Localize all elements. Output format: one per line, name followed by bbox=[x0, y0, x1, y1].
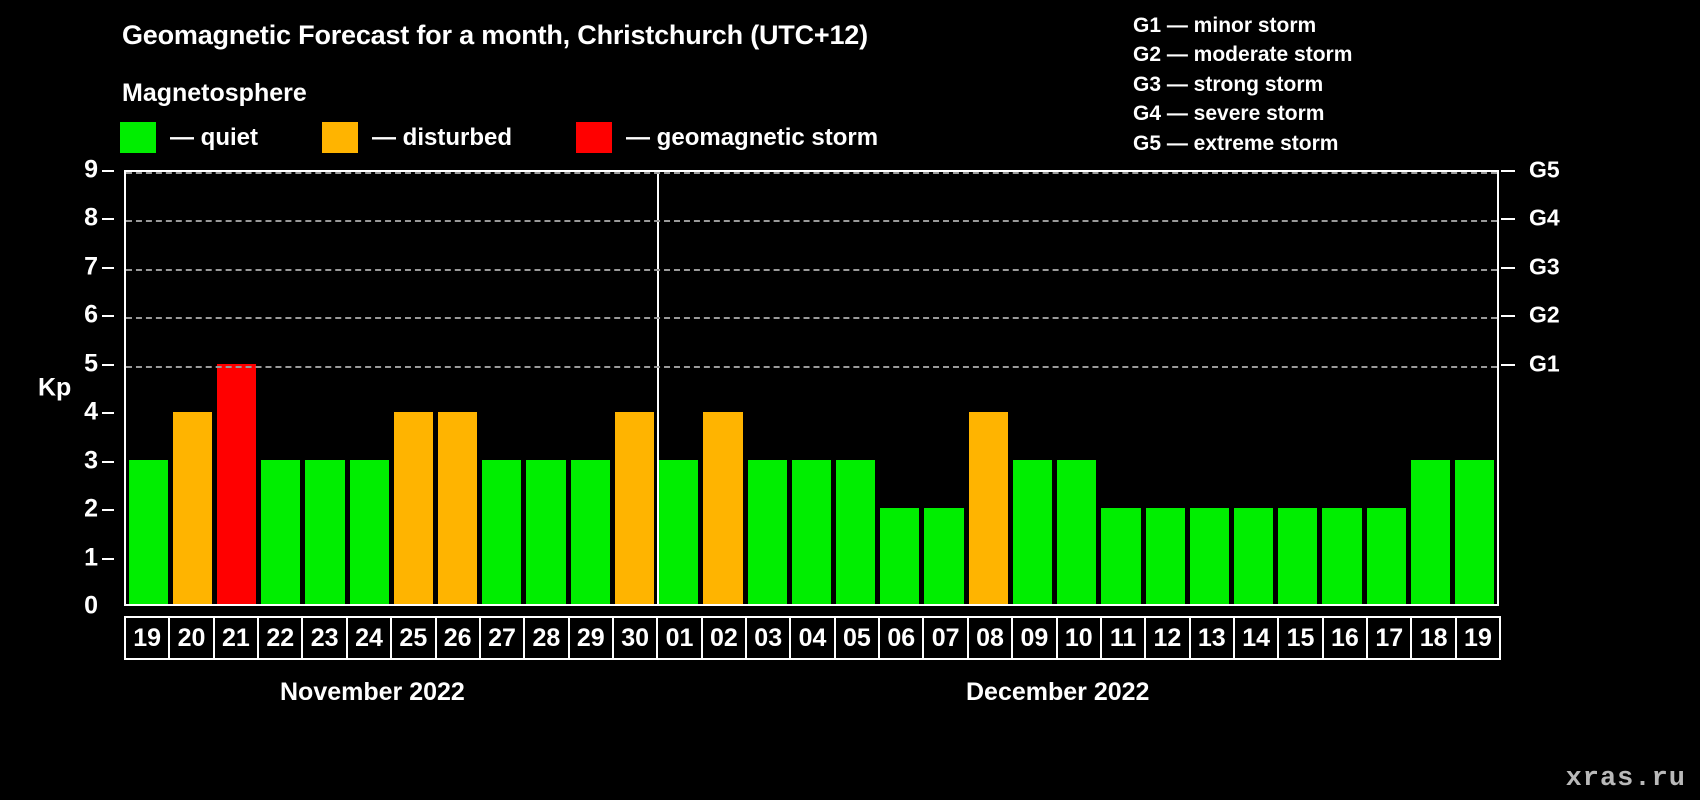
g-scale-row-3: G3 — strong storm bbox=[1133, 70, 1352, 99]
y-tick-7: 7 bbox=[84, 252, 98, 281]
bar-cell bbox=[612, 172, 656, 604]
bar-cell bbox=[1231, 172, 1275, 604]
bar-19 bbox=[129, 460, 168, 604]
bar-cell bbox=[524, 172, 568, 604]
y-tick-0: 0 bbox=[84, 592, 98, 621]
bar-17 bbox=[1367, 508, 1406, 604]
y-tick-2: 2 bbox=[84, 495, 98, 524]
bar-cell bbox=[657, 172, 701, 604]
bar-cell bbox=[259, 172, 303, 604]
bar-cell bbox=[1099, 172, 1143, 604]
day-label-23: 12 bbox=[1144, 616, 1190, 660]
g-tick-mark-G2 bbox=[1501, 315, 1515, 317]
bar-cell bbox=[1453, 172, 1497, 604]
day-label-19: 08 bbox=[967, 616, 1013, 660]
bar-21 bbox=[217, 364, 256, 604]
bar-27 bbox=[482, 460, 521, 604]
bar-cell bbox=[1010, 172, 1054, 604]
day-label-4: 23 bbox=[301, 616, 347, 660]
day-label-25: 14 bbox=[1233, 616, 1279, 660]
bar-16 bbox=[1322, 508, 1361, 604]
y-tick-5: 5 bbox=[84, 349, 98, 378]
y-tick-4: 4 bbox=[84, 398, 98, 427]
day-label-13: 02 bbox=[701, 616, 747, 660]
bar-07 bbox=[924, 508, 963, 604]
page-title: Geomagnetic Forecast for a month, Christ… bbox=[122, 20, 868, 51]
bar-cell bbox=[745, 172, 789, 604]
bar-cell bbox=[568, 172, 612, 604]
month-label-december: December 2022 bbox=[966, 678, 1149, 707]
month-divider bbox=[657, 172, 659, 604]
month-label-november: November 2022 bbox=[280, 678, 465, 707]
y-tick-mark-9 bbox=[102, 170, 114, 172]
day-label-7: 26 bbox=[435, 616, 481, 660]
day-label-11: 30 bbox=[612, 616, 658, 660]
bar-08 bbox=[969, 412, 1008, 604]
bar-cell bbox=[436, 172, 480, 604]
bar-18 bbox=[1411, 460, 1450, 604]
g-tick-G2: G2 bbox=[1529, 302, 1560, 329]
day-label-21: 10 bbox=[1056, 616, 1102, 660]
g-axis: G1G2G3G4G5 bbox=[1499, 170, 1619, 606]
bar-24 bbox=[350, 460, 389, 604]
day-label-1: 20 bbox=[168, 616, 214, 660]
day-label-30: 19 bbox=[1455, 616, 1501, 660]
bar-cell bbox=[170, 172, 214, 604]
x-axis-day-labels: 1920212223242526272829300102030405060708… bbox=[124, 616, 1499, 660]
day-label-6: 25 bbox=[390, 616, 436, 660]
day-label-16: 05 bbox=[834, 616, 880, 660]
bar-15 bbox=[1278, 508, 1317, 604]
day-label-20: 09 bbox=[1011, 616, 1057, 660]
gridline-kp-8 bbox=[126, 220, 1497, 222]
g-scale-legend: G1 — minor stormG2 — moderate stormG3 — … bbox=[1133, 11, 1352, 158]
legend-label-storm: — geomagnetic storm bbox=[626, 124, 878, 152]
bar-11 bbox=[1101, 508, 1140, 604]
day-label-14: 03 bbox=[745, 616, 791, 660]
g-scale-row-1: G1 — minor storm bbox=[1133, 11, 1352, 40]
bar-cell bbox=[1055, 172, 1099, 604]
bar-cell bbox=[214, 172, 258, 604]
gridline-kp-6 bbox=[126, 317, 1497, 319]
day-label-12: 01 bbox=[656, 616, 702, 660]
day-label-15: 04 bbox=[789, 616, 835, 660]
gridline-kp-7 bbox=[126, 269, 1497, 271]
bar-22 bbox=[261, 460, 300, 604]
y-axis: Kp 0123456789 bbox=[0, 170, 124, 606]
g-tick-G3: G3 bbox=[1529, 253, 1560, 280]
legend-item-storm: — geomagnetic storm bbox=[576, 122, 878, 153]
y-tick-3: 3 bbox=[84, 446, 98, 475]
day-label-5: 24 bbox=[346, 616, 392, 660]
day-label-28: 17 bbox=[1366, 616, 1412, 660]
g-tick-mark-G5 bbox=[1501, 170, 1515, 172]
day-label-24: 13 bbox=[1189, 616, 1235, 660]
legend: — quiet— disturbed— geomagnetic storm bbox=[120, 122, 878, 153]
day-label-18: 07 bbox=[922, 616, 968, 660]
day-label-17: 06 bbox=[878, 616, 924, 660]
bar-cell bbox=[966, 172, 1010, 604]
legend-item-quiet: — quiet bbox=[120, 122, 258, 153]
plot-area bbox=[124, 170, 1499, 606]
bar-cell bbox=[701, 172, 745, 604]
bar-cell bbox=[480, 172, 524, 604]
bar-20 bbox=[173, 412, 212, 604]
bar-cell bbox=[1187, 172, 1231, 604]
g-scale-row-5: G5 — extreme storm bbox=[1133, 129, 1352, 158]
bar-12 bbox=[1146, 508, 1185, 604]
g-tick-G4: G4 bbox=[1529, 205, 1560, 232]
legend-swatch-storm bbox=[576, 122, 612, 153]
bar-23 bbox=[305, 460, 344, 604]
y-tick-1: 1 bbox=[84, 543, 98, 572]
day-label-10: 29 bbox=[568, 616, 614, 660]
bar-series bbox=[126, 172, 1497, 604]
bar-cell bbox=[922, 172, 966, 604]
watermark: xras.ru bbox=[1566, 764, 1686, 794]
g-tick-mark-G1 bbox=[1501, 364, 1515, 366]
bar-25 bbox=[394, 412, 433, 604]
magnetosphere-label: Magnetosphere bbox=[122, 79, 307, 108]
bar-cell bbox=[789, 172, 833, 604]
y-tick-mark-3 bbox=[102, 461, 114, 463]
bar-04 bbox=[792, 460, 831, 604]
y-axis-label: Kp bbox=[38, 374, 71, 403]
y-tick-mark-4 bbox=[102, 412, 114, 414]
bar-28 bbox=[526, 460, 565, 604]
g-scale-row-4: G4 — severe storm bbox=[1133, 99, 1352, 128]
bar-26 bbox=[438, 412, 477, 604]
day-label-2: 21 bbox=[213, 616, 259, 660]
legend-swatch-quiet bbox=[120, 122, 156, 153]
bar-cell bbox=[878, 172, 922, 604]
bar-cell bbox=[1320, 172, 1364, 604]
bar-cell bbox=[834, 172, 878, 604]
bar-cell bbox=[303, 172, 347, 604]
y-tick-9: 9 bbox=[84, 156, 98, 185]
g-tick-mark-G4 bbox=[1501, 218, 1515, 220]
g-tick-mark-G3 bbox=[1501, 267, 1515, 269]
gridline-kp-9 bbox=[126, 172, 1497, 174]
bar-03 bbox=[748, 460, 787, 604]
legend-label-quiet: — quiet bbox=[170, 124, 258, 152]
bar-cell bbox=[1408, 172, 1452, 604]
g-tick-G5: G5 bbox=[1529, 157, 1560, 184]
bar-13 bbox=[1190, 508, 1229, 604]
day-label-8: 27 bbox=[479, 616, 525, 660]
y-tick-mark-5 bbox=[102, 364, 114, 366]
bar-29 bbox=[571, 460, 610, 604]
g-scale-row-2: G2 — moderate storm bbox=[1133, 40, 1352, 69]
day-label-0: 19 bbox=[124, 616, 170, 660]
bar-cell bbox=[347, 172, 391, 604]
y-tick-mark-2 bbox=[102, 509, 114, 511]
day-label-27: 16 bbox=[1322, 616, 1368, 660]
bar-cell bbox=[1143, 172, 1187, 604]
y-tick-mark-1 bbox=[102, 558, 114, 560]
legend-swatch-disturbed bbox=[322, 122, 358, 153]
g-tick-G1: G1 bbox=[1529, 350, 1560, 377]
gridline-kp-5 bbox=[126, 366, 1497, 368]
bar-14 bbox=[1234, 508, 1273, 604]
day-label-22: 11 bbox=[1100, 616, 1146, 660]
bar-cell bbox=[1276, 172, 1320, 604]
bar-cell bbox=[1364, 172, 1408, 604]
y-tick-mark-8 bbox=[102, 218, 114, 220]
bar-cell bbox=[126, 172, 170, 604]
bar-01 bbox=[659, 460, 698, 604]
bar-30 bbox=[615, 412, 654, 604]
y-tick-6: 6 bbox=[84, 301, 98, 330]
bar-09 bbox=[1013, 460, 1052, 604]
legend-label-disturbed: — disturbed bbox=[372, 124, 512, 152]
day-label-26: 15 bbox=[1277, 616, 1323, 660]
bar-02 bbox=[703, 412, 742, 604]
day-label-9: 28 bbox=[523, 616, 569, 660]
legend-item-disturbed: — disturbed bbox=[322, 122, 512, 153]
bar-10 bbox=[1057, 460, 1096, 604]
bar-19 bbox=[1455, 460, 1494, 604]
day-label-29: 18 bbox=[1410, 616, 1456, 660]
bar-06 bbox=[880, 508, 919, 604]
y-tick-mark-6 bbox=[102, 315, 114, 317]
bar-cell bbox=[391, 172, 435, 604]
y-tick-8: 8 bbox=[84, 204, 98, 233]
bar-05 bbox=[836, 460, 875, 604]
day-label-3: 22 bbox=[257, 616, 303, 660]
y-tick-mark-7 bbox=[102, 267, 114, 269]
